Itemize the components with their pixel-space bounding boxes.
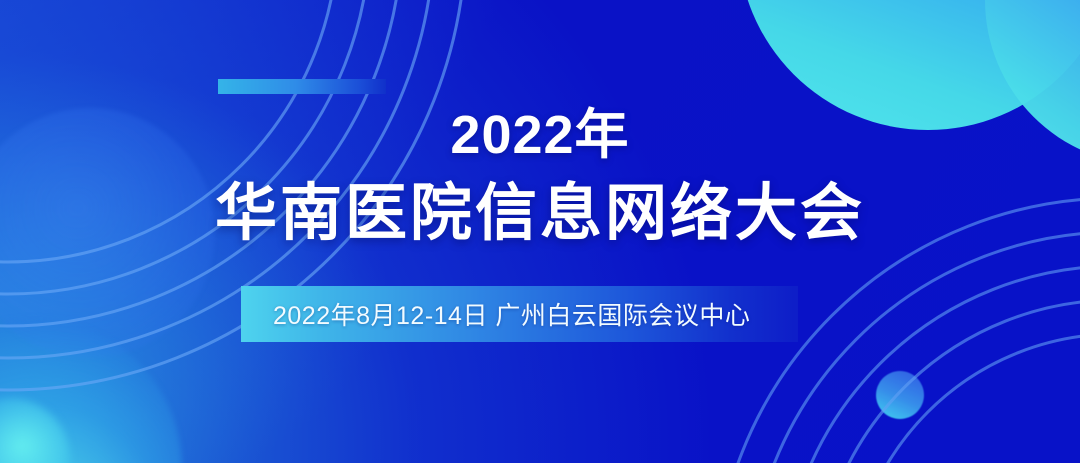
subtitle-bar: 2022年8月12-14日 广州白云国际会议中心 xyxy=(241,286,798,342)
banner-year: 2022年 xyxy=(450,108,629,162)
banner-content: 2022年 华南医院信息网络大会 xyxy=(0,0,1080,463)
conference-banner: 2022年 华南医院信息网络大会 2022年8月12-14日 广州白云国际会议中… xyxy=(0,0,1080,463)
subtitle-date-and-venue: 2022年8月12-14日 广州白云国际会议中心 xyxy=(273,296,750,332)
banner-headline: 华南医院信息网络大会 xyxy=(215,183,865,245)
